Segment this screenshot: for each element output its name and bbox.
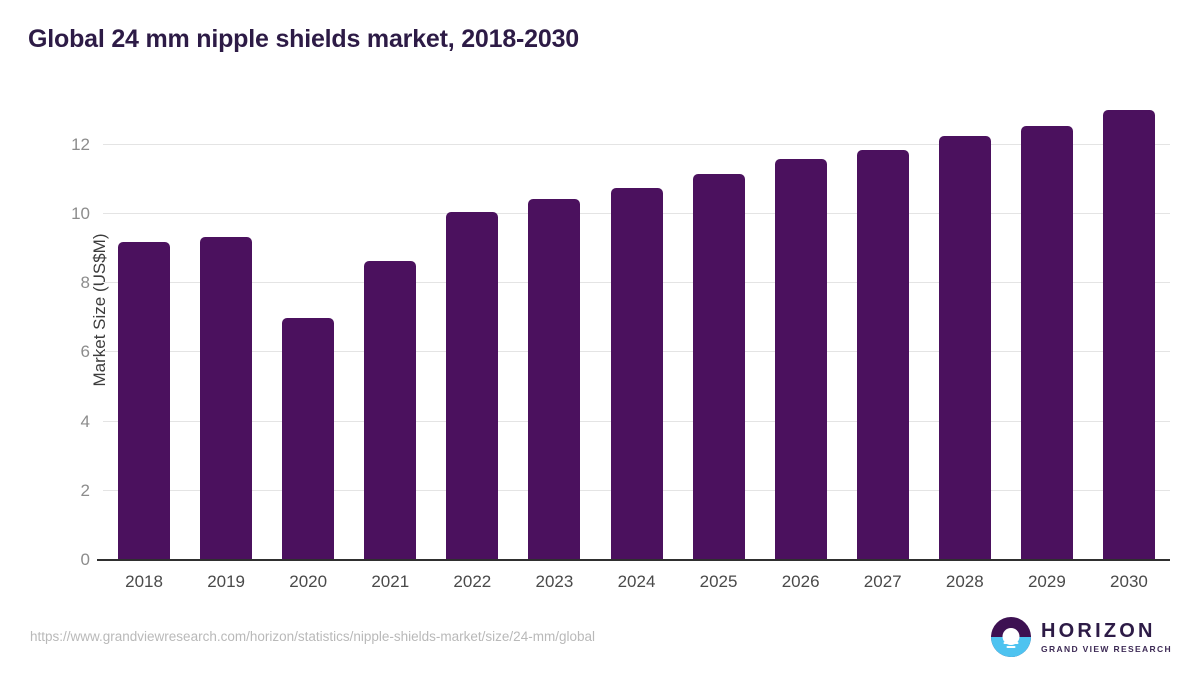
x-tick-label-2030: 2030 [1089,572,1169,592]
x-axis-line [97,559,1170,561]
x-tick-label-2025: 2025 [679,572,759,592]
bar-2023[interactable] [528,199,580,560]
bar-2022[interactable] [446,212,498,560]
x-tick-label-2029: 2029 [1007,572,1087,592]
bar-2028[interactable] [939,136,991,560]
y-tick-label: 10 [50,204,90,224]
y-tick-label: 6 [50,342,90,362]
x-tick-label-2027: 2027 [843,572,923,592]
x-tick-label-2018: 2018 [104,572,184,592]
bar-2030[interactable] [1103,110,1155,560]
chart-page: Global 24 mm nipple shields market, 2018… [0,0,1200,675]
logo-wordmark: HORIZON [1041,621,1172,641]
bar-2021[interactable] [364,261,416,560]
bar-2019[interactable] [200,237,252,560]
logo-ray-lower [1007,646,1016,648]
horizon-logo[interactable]: HORIZON GRAND VIEW RESEARCH [991,615,1172,659]
x-tick-label-2020: 2020 [268,572,348,592]
x-axis-ticks: 2018201920202021202220232024202520262027… [103,572,1170,600]
x-tick-label-2021: 2021 [350,572,430,592]
x-tick-label-2019: 2019 [186,572,266,592]
bar-2020[interactable] [282,318,334,560]
y-tick-label: 2 [50,481,90,501]
bar-2029[interactable] [1021,126,1073,560]
y-tick-label: 0 [50,550,90,570]
page-title: Global 24 mm nipple shields market, 2018… [28,25,579,54]
x-tick-label-2026: 2026 [761,572,841,592]
bar-2024[interactable] [611,188,663,560]
plot-area [103,100,1170,560]
logo-ray-upper [1004,642,1019,644]
x-tick-label-2023: 2023 [514,572,594,592]
logo-subtitle: GRAND VIEW RESEARCH [1041,645,1172,654]
y-axis-ticks: 024681012 [48,100,90,560]
x-tick-label-2024: 2024 [597,572,677,592]
y-tick-label: 8 [50,273,90,293]
bar-2026[interactable] [775,159,827,560]
bar-2027[interactable] [857,150,909,560]
x-tick-label-2022: 2022 [432,572,512,592]
y-tick-label: 4 [50,412,90,432]
horizon-sun-circle-icon [991,617,1031,657]
gridline [103,144,1170,145]
bar-2025[interactable] [693,174,745,560]
bar-2018[interactable] [118,242,170,560]
source-url[interactable]: https://www.grandviewresearch.com/horizo… [30,629,595,644]
logo-text: HORIZON GRAND VIEW RESEARCH [1041,621,1172,654]
x-tick-label-2028: 2028 [925,572,1005,592]
y-tick-label: 12 [50,135,90,155]
